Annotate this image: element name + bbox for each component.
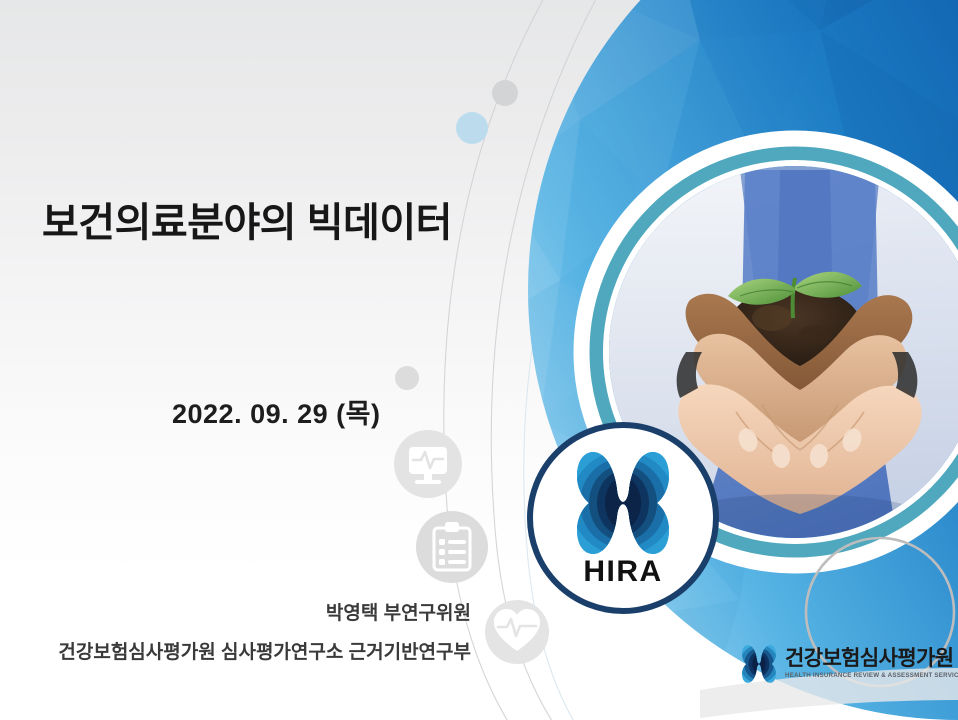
blue-dot	[456, 112, 488, 144]
page-title: 보건의료분야의 빅데이터	[42, 190, 452, 248]
presentation-slide: 보건의료분야의 빅데이터 2022. 09. 29 (목) 박영택 부연구위원 …	[0, 0, 958, 720]
presenter-name: 박영택 부연구위원	[326, 598, 471, 625]
corporate-logo: 건강보험심사평가원 HEALTH INSURANCE REVIEW & ASSE…	[742, 644, 958, 684]
hira-chromosome-icon	[577, 450, 669, 556]
heart-pulse-icon	[485, 600, 549, 664]
slide-background-decoration	[0, 0, 958, 720]
corporate-name-en: HEALTH INSURANCE REVIEW & ASSESSMENT SER…	[785, 672, 958, 679]
presenter-affiliation: 건강보험심사평가원 심사평가연구소 근거기반연구부	[58, 637, 471, 664]
hira-logo-badge: HIRA	[527, 422, 719, 614]
clipboard-checklist-icon	[416, 511, 488, 583]
gray-dot	[492, 80, 518, 106]
corporate-logo-text: 건강보험심사평가원 HEALTH INSURANCE REVIEW & ASSE…	[785, 648, 958, 679]
monitor-ecg-icon	[394, 430, 462, 498]
hira-chromosome-icon	[742, 644, 776, 684]
gray-dot-small	[395, 366, 419, 390]
hira-wordmark: HIRA	[583, 557, 662, 587]
presentation-date: 2022. 09. 29 (목)	[172, 392, 380, 431]
corporate-name-ko: 건강보험심사평가원	[785, 648, 958, 670]
